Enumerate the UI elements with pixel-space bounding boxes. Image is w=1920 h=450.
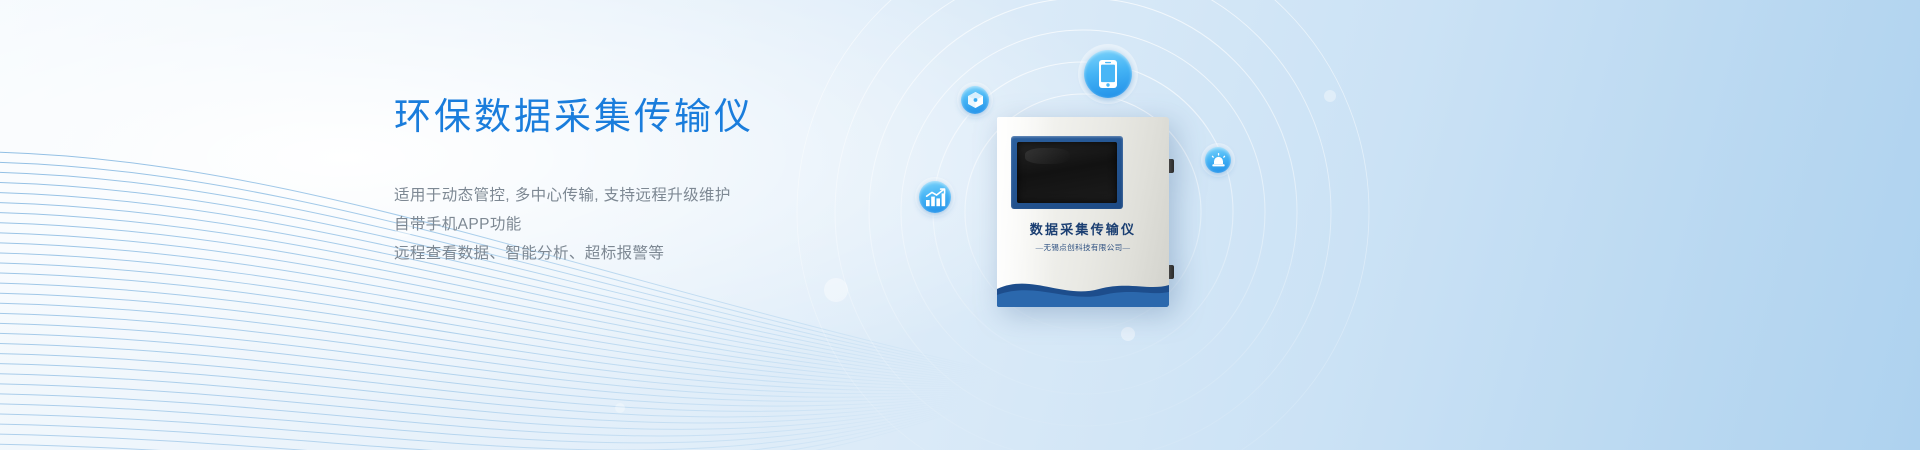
page-title: 环保数据采集传输仪 (394, 96, 914, 139)
subtitle-line-3: 远程查看数据、智能分析、超标报警等 (394, 239, 914, 268)
device-lcd-screen (1017, 142, 1117, 203)
subtitle-list: 适用于动态管控, 多中心传输, 支持远程升级维护 自带手机APP功能 远程查看数… (394, 181, 914, 268)
subtitle-line-1: 适用于动态管控, 多中心传输, 支持远程升级维护 (394, 181, 914, 210)
cube-icon[interactable] (957, 82, 993, 118)
product-hero-banner: 环保数据采集传输仪 适用于动态管控, 多中心传输, 支持远程升级维护 自带手机A… (0, 0, 1920, 450)
decorative-line-fan (0, 0, 1920, 450)
smartphone-icon[interactable] (1078, 44, 1138, 104)
product-device-image: 数据采集传输仪 —无锡点创科技有限公司— (997, 117, 1169, 307)
badge-core (1084, 50, 1132, 98)
badge-core (919, 181, 951, 213)
subtitle-line-2: 自带手机APP功能 (394, 210, 914, 239)
device-cabinet: 数据采集传输仪 —无锡点创科技有限公司— (997, 117, 1169, 307)
alarm-beacon-icon[interactable] (1201, 143, 1235, 177)
device-nameplate: 数据采集传输仪 —无锡点创科技有限公司— (997, 219, 1169, 253)
device-company-name: —无锡点创科技有限公司— (997, 242, 1169, 253)
badge-core (961, 86, 989, 114)
bar-chart-growth-icon[interactable] (915, 177, 955, 217)
device-screen-bezel (1011, 136, 1123, 209)
device-model-name: 数据采集传输仪 (997, 219, 1169, 238)
device-wave-graphic (997, 259, 1169, 307)
badge-core (1205, 147, 1231, 173)
banner-copy: 环保数据采集传输仪 适用于动态管控, 多中心传输, 支持远程升级维护 自带手机A… (394, 96, 914, 268)
